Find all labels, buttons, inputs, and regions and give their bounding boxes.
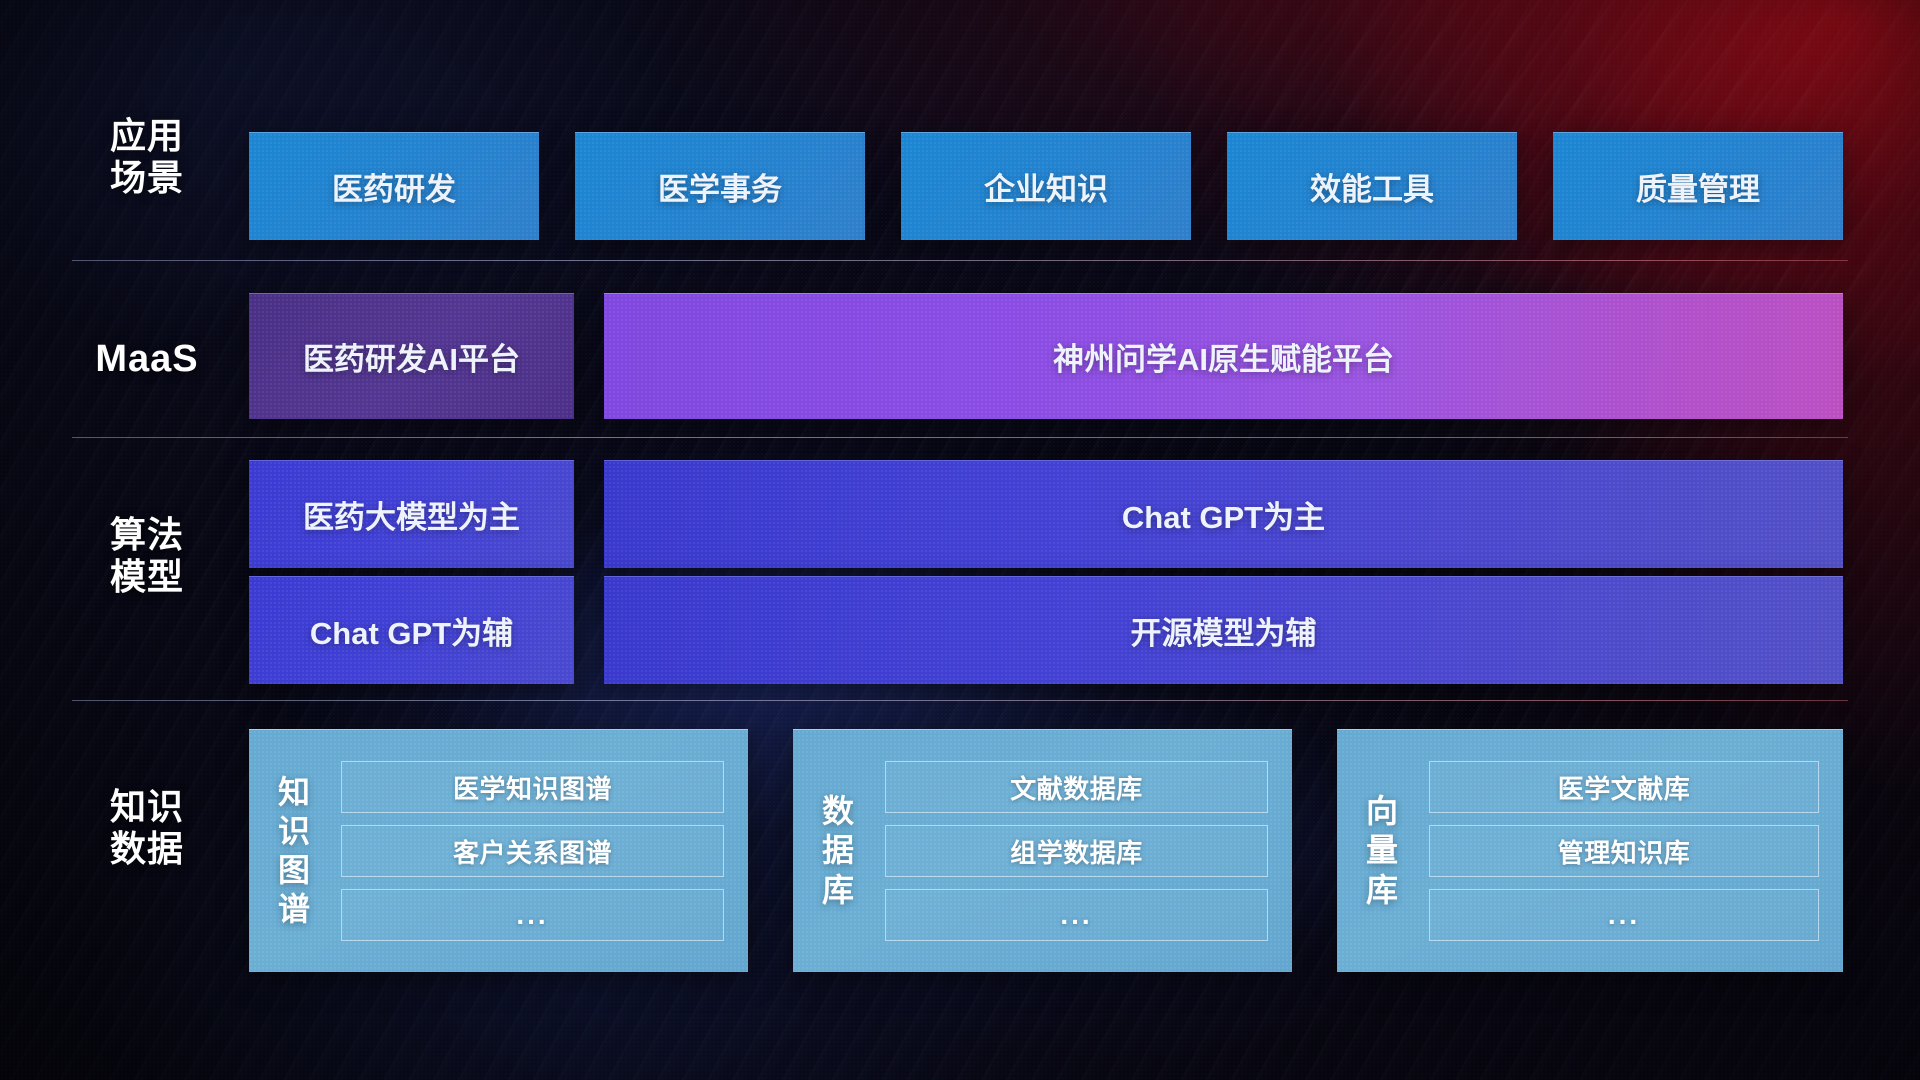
row-label-line: 算法 — [72, 514, 222, 556]
row-label-application-scenarios: 应用 场景 — [72, 115, 222, 199]
knowledge-card-label-char: 库 — [793, 871, 885, 910]
knowledge-card-label: 知 识 图 谱 — [249, 773, 341, 929]
knowledge-card-vector-store[interactable]: 向 量 库 医学文献库 管理知识库 ... — [1337, 729, 1843, 972]
knowledge-card-database[interactable]: 数 据 库 文献数据库 组学数据库 ... — [793, 729, 1292, 972]
row-label-line: 数据 — [72, 828, 222, 870]
knowledge-card-label: 数 据 库 — [793, 792, 885, 909]
knowledge-item-more[interactable]: ... — [341, 889, 724, 941]
divider-after-maas — [72, 437, 1848, 438]
knowledge-item[interactable]: 客户关系图谱 — [341, 825, 724, 877]
tile-maas-shenzhou-wenxue-platform[interactable]: 神州问学AI原生赋能平台 — [604, 293, 1843, 419]
divider-after-application-scenarios — [72, 260, 1848, 261]
tile-app-enterprise-knowledge[interactable]: 企业知识 — [901, 132, 1191, 240]
knowledge-card-label: 向 量 库 — [1337, 792, 1429, 909]
knowledge-item[interactable]: 医学文献库 — [1429, 761, 1819, 813]
tile-label: 效能工具 — [1310, 164, 1434, 209]
knowledge-item-more[interactable]: ... — [885, 889, 1268, 941]
tile-app-efficiency-tools[interactable]: 效能工具 — [1227, 132, 1517, 240]
divider-after-algorithm-models — [72, 700, 1848, 701]
knowledge-item[interactable]: 组学数据库 — [885, 825, 1268, 877]
tile-label: 质量管理 — [1636, 164, 1760, 209]
knowledge-item[interactable]: 文献数据库 — [885, 761, 1268, 813]
row-label-line: MaaS — [72, 337, 222, 381]
row-label-algorithm-models: 算法 模型 — [72, 514, 222, 598]
tile-algo-chatgpt-secondary[interactable]: Chat GPT为辅 — [249, 576, 574, 684]
knowledge-item-more[interactable]: ... — [1429, 889, 1819, 941]
tile-label: 医药研发AI平台 — [303, 334, 520, 379]
row-label-line: 知识 — [72, 786, 222, 828]
knowledge-card-label-char: 向 — [1337, 792, 1429, 831]
row-label-maas: MaaS — [72, 337, 222, 381]
tile-algo-opensource-secondary[interactable]: 开源模型为辅 — [604, 576, 1843, 684]
tile-app-quality-management[interactable]: 质量管理 — [1553, 132, 1843, 240]
knowledge-card-items: 医学知识图谱 客户关系图谱 ... — [341, 761, 748, 941]
knowledge-card-label-char: 知 — [249, 773, 341, 812]
knowledge-card-label-char: 识 — [249, 812, 341, 851]
knowledge-card-label-char: 谱 — [249, 890, 341, 929]
diagram-content: 应用 场景 医药研发 医学事务 企业知识 效能工具 质量管理 MaaS 医药研发… — [0, 0, 1920, 1080]
row-label-line: 模型 — [72, 556, 222, 598]
tile-maas-medicine-ai-platform[interactable]: 医药研发AI平台 — [249, 293, 574, 419]
tile-algo-medicine-large-model-primary[interactable]: 医药大模型为主 — [249, 460, 574, 568]
knowledge-card-label-char: 量 — [1337, 831, 1429, 870]
tile-label: Chat GPT为主 — [1122, 492, 1325, 537]
diagram-canvas: 应用 场景 医药研发 医学事务 企业知识 效能工具 质量管理 MaaS 医药研发… — [0, 0, 1920, 1080]
row-label-knowledge-data: 知识 数据 — [72, 786, 222, 870]
knowledge-item[interactable]: 管理知识库 — [1429, 825, 1819, 877]
knowledge-card-label-char: 库 — [1337, 871, 1429, 910]
knowledge-card-label-char: 据 — [793, 831, 885, 870]
row-label-line: 场景 — [72, 157, 222, 199]
tile-label: 医药大模型为主 — [303, 492, 520, 537]
knowledge-item[interactable]: 医学知识图谱 — [341, 761, 724, 813]
tile-app-medical-affairs[interactable]: 医学事务 — [575, 132, 865, 240]
tile-label: 企业知识 — [984, 164, 1108, 209]
knowledge-card-items: 医学文献库 管理知识库 ... — [1429, 761, 1843, 941]
knowledge-card-items: 文献数据库 组学数据库 ... — [885, 761, 1292, 941]
tile-algo-chatgpt-primary[interactable]: Chat GPT为主 — [604, 460, 1843, 568]
tile-label: 医药研发 — [332, 164, 456, 209]
tile-label: 医学事务 — [658, 164, 782, 209]
knowledge-card-label-char: 数 — [793, 792, 885, 831]
knowledge-card-label-char: 图 — [249, 851, 341, 890]
tile-app-medicine-rnd[interactable]: 医药研发 — [249, 132, 539, 240]
knowledge-card-knowledge-graph[interactable]: 知 识 图 谱 医学知识图谱 客户关系图谱 ... — [249, 729, 748, 972]
tile-label: Chat GPT为辅 — [310, 608, 513, 653]
tile-label: 开源模型为辅 — [1131, 608, 1317, 653]
tile-label: 神州问学AI原生赋能平台 — [1053, 334, 1394, 379]
row-label-line: 应用 — [72, 115, 222, 157]
